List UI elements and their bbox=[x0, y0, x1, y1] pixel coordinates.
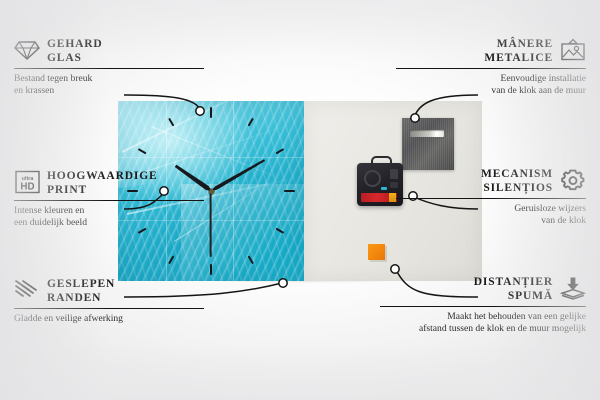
feature-distantier-spuma[interactable]: DISTANȚIER SPUMĂ Maakt het behouden van … bbox=[380, 276, 586, 335]
feature-title-line2: RANDEN bbox=[47, 292, 115, 306]
feature-divider bbox=[14, 308, 204, 309]
feature-title-line1: GEHARD bbox=[47, 38, 103, 52]
metal-hanger-plate bbox=[402, 118, 454, 170]
feature-title-line1: DISTANȚIER bbox=[474, 276, 553, 290]
infographic-canvas: GEHARD GLAS Bestand tegen breuk en krass… bbox=[0, 0, 600, 400]
feature-desc-line1: Bestand tegen breuk bbox=[14, 73, 204, 85]
feature-desc-line2: van de klok bbox=[396, 215, 586, 227]
feature-title-line2: SILENȚIOS bbox=[481, 182, 553, 196]
feature-manere-metalice[interactable]: MÂNERE METALICE Eenvoudige installatie v… bbox=[396, 38, 586, 97]
mechanism-hanger-hook bbox=[371, 156, 392, 168]
hour-tick bbox=[211, 190, 295, 192]
feature-geslepen-randen[interactable]: GESLEPEN RANDEN Gladde en veilige afwerk… bbox=[14, 278, 204, 325]
hour-tick bbox=[210, 107, 212, 191]
feature-divider bbox=[380, 306, 586, 307]
feature-title-line2: PRINT bbox=[47, 184, 158, 198]
feature-desc-line1: Intense kleuren en bbox=[14, 205, 204, 217]
hanger-keyhole-slot bbox=[410, 130, 444, 137]
feature-desc-line2: van de klok aan de muur bbox=[396, 85, 586, 97]
battery bbox=[361, 193, 397, 202]
foam-spacer bbox=[368, 244, 385, 260]
feature-title-line2: GLAS bbox=[47, 52, 103, 66]
feature-title-line1: MÂNERE bbox=[484, 38, 553, 52]
feature-divider bbox=[14, 200, 204, 201]
feature-title-line1: HOOGWAARDIGE bbox=[47, 170, 158, 184]
feature-desc-line1: Gladde en veilige afwerking bbox=[14, 313, 204, 325]
feature-desc-line1: Geruisloze wijzers bbox=[396, 203, 586, 215]
feature-title-line2: METALICE bbox=[484, 52, 553, 66]
feature-title-line2: SPUMĂ bbox=[474, 290, 553, 304]
press-down-foam-icon bbox=[560, 276, 586, 300]
feature-desc-line2: een duidelijk beeld bbox=[14, 217, 204, 229]
feature-divider bbox=[14, 68, 204, 69]
feature-desc-line2: afstand tussen de klok en de muur mogeli… bbox=[380, 323, 586, 335]
feature-title-line1: GESLEPEN bbox=[47, 278, 115, 292]
diamond-icon bbox=[14, 38, 40, 62]
wall-hanging-frame-icon bbox=[560, 38, 586, 62]
feature-divider bbox=[396, 68, 586, 69]
clock-center-pin bbox=[209, 189, 214, 194]
feature-hoogwaardige-print[interactable]: ultra HD HOOGWAARDIGE PRINT Intense kleu… bbox=[14, 170, 204, 229]
bevelled-edges-icon bbox=[14, 278, 40, 302]
mechanism-indicator bbox=[381, 187, 387, 190]
feature-desc-line1: Maakt het behouden van een gelijke bbox=[380, 311, 586, 323]
feature-gehard-glas[interactable]: GEHARD GLAS Bestand tegen breuk en krass… bbox=[14, 38, 204, 97]
gear-icon bbox=[560, 168, 586, 192]
svg-text:HD: HD bbox=[20, 182, 34, 193]
ultra-hd-icon: ultra HD bbox=[14, 170, 40, 194]
clock-second-hand bbox=[210, 191, 212, 257]
feature-title-line1: MECANISM bbox=[481, 168, 553, 182]
feature-mecanism-silentios[interactable]: MECANISM SILENȚIOS Geruisloze wijzers va… bbox=[396, 168, 586, 227]
feature-divider bbox=[396, 198, 586, 199]
feature-desc-line1: Eenvoudige installatie bbox=[396, 73, 586, 85]
mechanism-dial bbox=[364, 170, 381, 187]
feature-desc-line2: en krassen bbox=[14, 85, 204, 97]
